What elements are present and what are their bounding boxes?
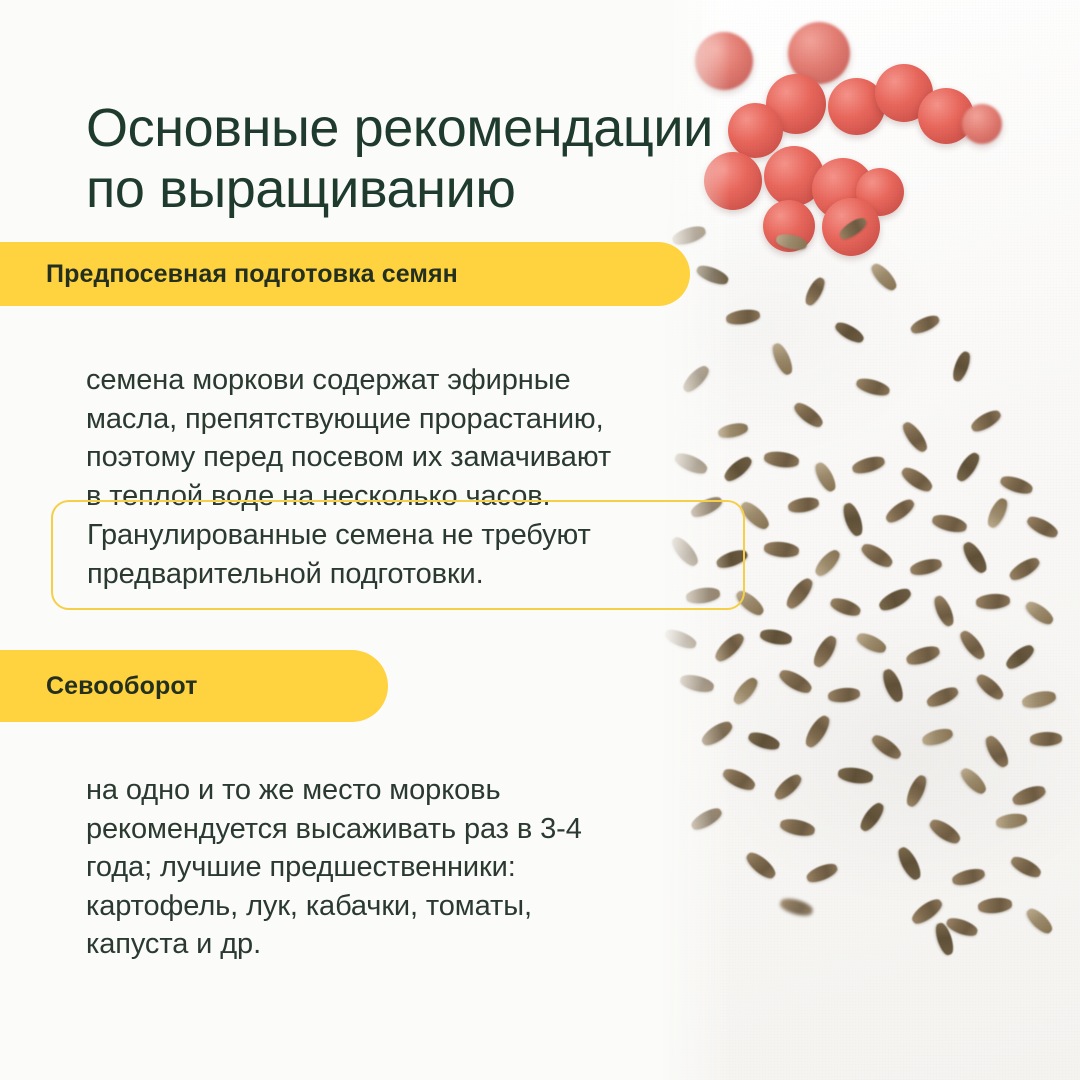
section-body-seed-preparation: семена моркови содержат эфирные масла, п… [86,361,786,515]
text-content-column: Основные рекомендации по выращиванию Пре… [0,0,800,1080]
section-heading-pill-seed-preparation: Предпосевная подготовка семян [0,242,690,306]
callout-text: Гранулированные семена не требуют предва… [87,516,591,593]
infographic-card: Основные рекомендации по выращиванию Пре… [0,0,1080,1080]
section-heading-label: Севооборот [46,672,197,701]
section-heading-label: Предпосевная подготовка семян [46,260,458,289]
callout-box-granulated-seeds: Гранулированные семена не требуют предва… [51,500,745,610]
section-heading-pill-crop-rotation: Севооборот [0,650,388,722]
section-body-crop-rotation: на одно и то же место морковь рекомендуе… [86,771,746,964]
page-title: Основные рекомендации по выращиванию [86,98,906,219]
